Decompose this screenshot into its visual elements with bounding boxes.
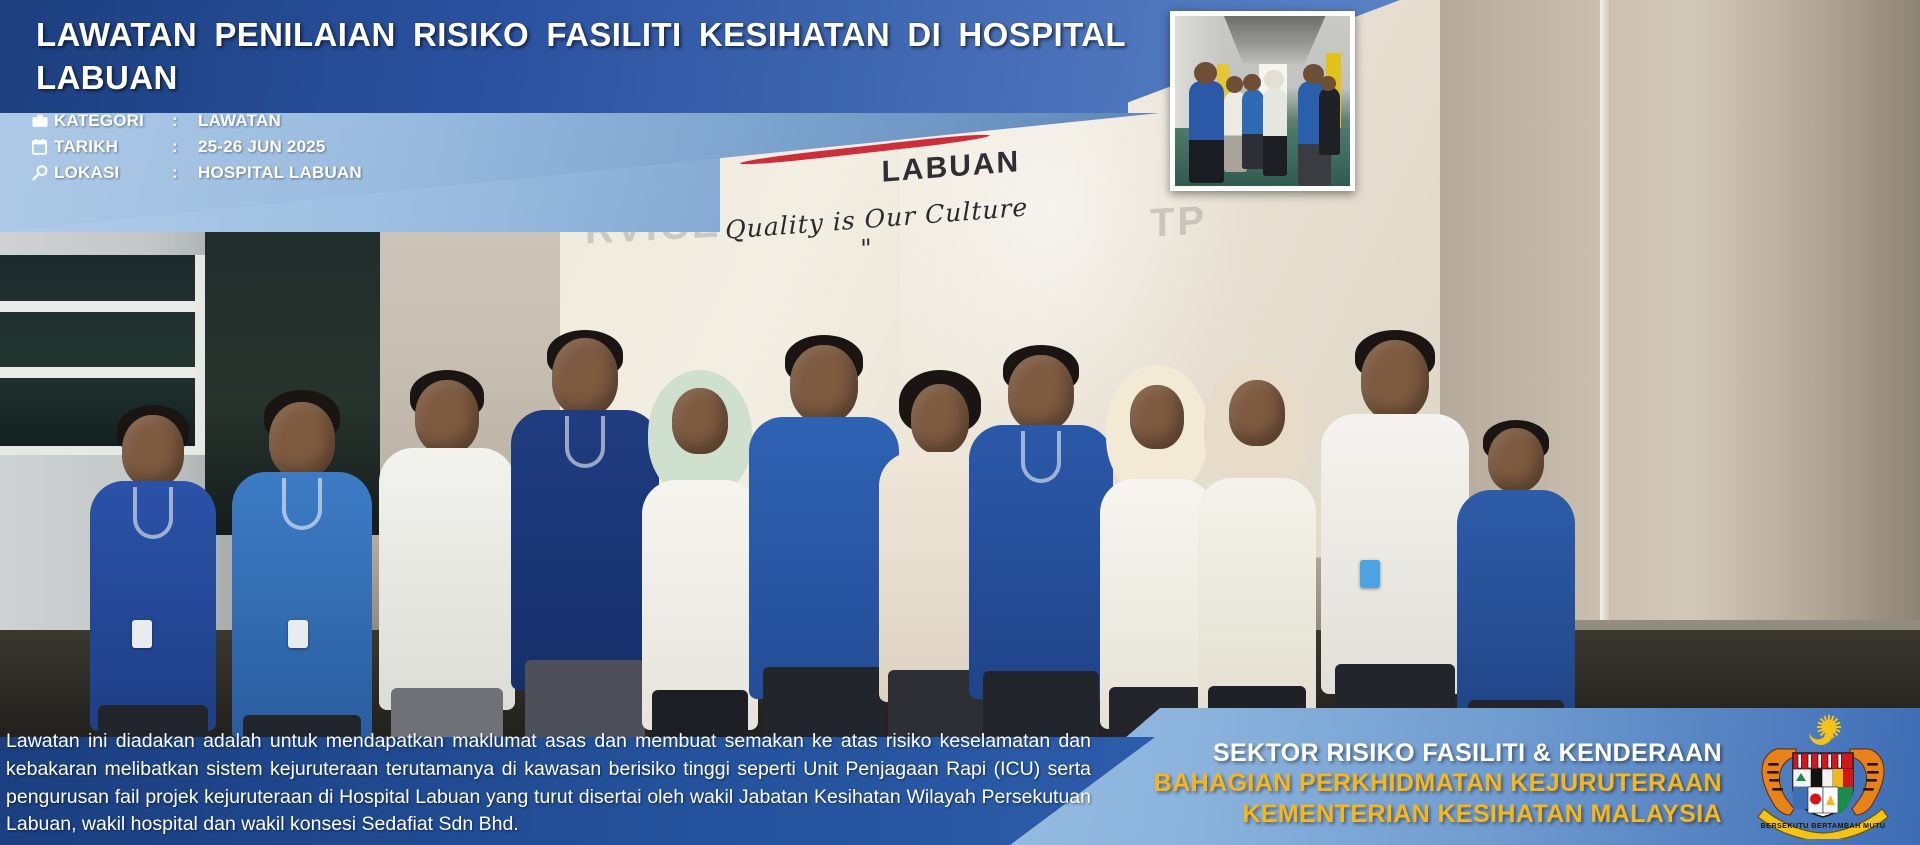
meta-colon-lokasi: : xyxy=(172,163,198,183)
person-1 xyxy=(88,405,218,750)
meta-row-lokasi: LOKASI : HOSPITAL LABUAN xyxy=(32,160,362,186)
meta-value-lokasi: HOSPITAL LABUAN xyxy=(198,163,362,183)
footer-caption-text: Lawatan ini diadakan adalah untuk mendap… xyxy=(6,728,1091,839)
org-line-bahagian: BAHAGIAN PERKHIDMATAN KEJURUTERAAN xyxy=(1154,768,1722,799)
jata-negara-emblem: BERSEKUTU BERTAMBAH MUTU xyxy=(1738,709,1908,839)
meta-value-kategori: LAWATAN xyxy=(198,111,281,131)
person-4 xyxy=(510,330,660,750)
person-3 xyxy=(378,370,516,750)
person-8 xyxy=(968,345,1113,750)
meta-block: KATEGORI : LAWATAN TARIKH : 25-26 JUN 20… xyxy=(32,108,362,186)
meta-label-tarikh: TARIKH xyxy=(54,137,172,157)
pin-icon xyxy=(32,165,54,181)
meta-colon-tarikh: : xyxy=(172,137,198,157)
org-line-kementerian: KEMENTERIAN KESIHATAN MALAYSIA xyxy=(1154,799,1722,830)
person-5 xyxy=(640,370,760,750)
meta-value-tarikh: 25-26 JUN 2025 xyxy=(198,137,326,157)
wall-text-tp: TP xyxy=(1150,199,1207,247)
person-2 xyxy=(232,390,372,750)
meta-row-kategori: KATEGORI : LAWATAN xyxy=(32,108,362,134)
inset-photo xyxy=(1170,11,1355,191)
calendar-icon xyxy=(32,139,54,155)
footer-org-lines: SEKTOR RISIKO FASILITI & KENDERAAN BAHAG… xyxy=(1154,738,1722,830)
briefcase-icon xyxy=(32,114,54,128)
meta-label-lokasi: LOKASI xyxy=(54,163,172,183)
person-12 xyxy=(1456,420,1576,750)
emblem-motto-text: BERSEKUTU BERTAMBAH MUTU xyxy=(1761,821,1886,830)
org-line-sektor: SEKTOR RISIKO FASILITI & KENDERAAN xyxy=(1154,738,1722,769)
poster-root: RVICE TP e b a v i n g ES sedafiat LABUA… xyxy=(0,0,1920,845)
person-11 xyxy=(1320,330,1470,750)
person-10 xyxy=(1196,360,1318,750)
meta-label-kategori: KATEGORI xyxy=(54,111,172,131)
meta-row-tarikh: TARIKH : 25-26 JUN 2025 xyxy=(32,134,362,160)
meta-colon-kategori: : xyxy=(172,111,198,131)
